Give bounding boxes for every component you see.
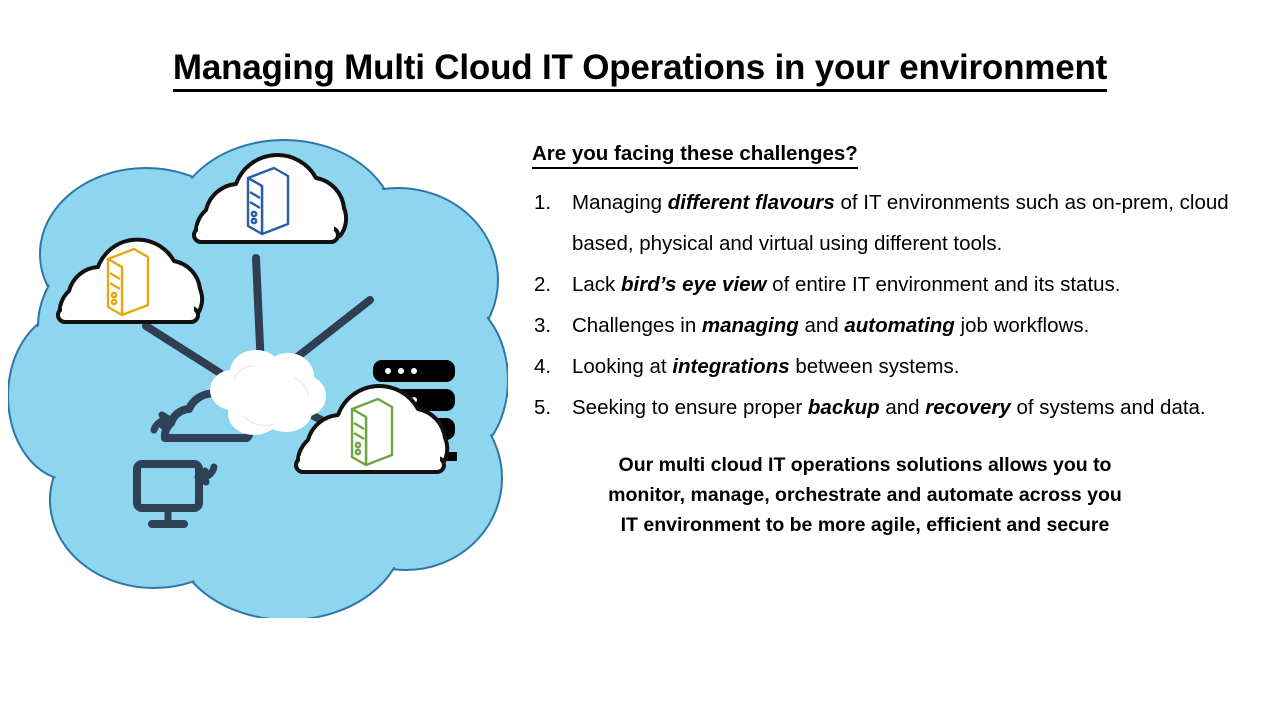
list-item-number: 3. bbox=[534, 305, 560, 346]
list-item: 4. Looking at integrations between syste… bbox=[532, 346, 1232, 387]
list-item-text: Looking at integrations between systems. bbox=[572, 355, 959, 378]
plain-text: Lack bbox=[572, 273, 621, 296]
plain-text: and bbox=[880, 396, 926, 419]
plain-text: Managing bbox=[572, 191, 668, 214]
plain-text: Seeking to ensure proper bbox=[572, 396, 808, 419]
list-item: 5. Seeking to ensure proper backup and r… bbox=[532, 387, 1232, 428]
page-title: Managing Multi Cloud IT Operations in yo… bbox=[0, 48, 1280, 88]
page-title-text: Managing Multi Cloud IT Operations in yo… bbox=[173, 48, 1107, 92]
slide-canvas: Managing Multi Cloud IT Operations in yo… bbox=[0, 0, 1280, 720]
solution-line: IT environment to be more agile, efficie… bbox=[532, 510, 1198, 540]
plain-text: Challenges in bbox=[572, 314, 702, 337]
emphasis-text: managing bbox=[702, 314, 799, 337]
list-item: 1. Managing different flavours of IT env… bbox=[532, 182, 1232, 264]
challenges-heading: Are you facing these challenges? bbox=[532, 142, 858, 169]
server-tower-icon bbox=[108, 249, 148, 315]
plain-text: between systems. bbox=[790, 355, 960, 378]
list-item: 2. Lack bird’s eye view of entire IT env… bbox=[532, 264, 1232, 305]
list-item-number: 5. bbox=[534, 387, 560, 428]
solution-line: Our multi cloud IT operations solutions … bbox=[532, 450, 1198, 480]
list-item: 3. Challenges in managing and automating… bbox=[532, 305, 1232, 346]
challenges-panel: Are you facing these challenges? 1. Mana… bbox=[532, 142, 1232, 540]
plain-text: job workflows. bbox=[955, 314, 1089, 337]
emphasis-text: integrations bbox=[672, 355, 789, 378]
plain-text: and bbox=[799, 314, 845, 337]
plain-text: of systems and data. bbox=[1011, 396, 1206, 419]
list-item-number: 4. bbox=[534, 346, 560, 387]
emphasis-text: recovery bbox=[925, 396, 1010, 419]
challenge-list: 1. Managing different flavours of IT env… bbox=[532, 182, 1232, 428]
plain-text: of entire IT environment and its status. bbox=[766, 273, 1120, 296]
solution-statement: Our multi cloud IT operations solutions … bbox=[532, 450, 1232, 540]
emphasis-text: backup bbox=[808, 396, 880, 419]
emphasis-text: bird’s eye view bbox=[621, 273, 766, 296]
emphasis-text: automating bbox=[844, 314, 954, 337]
server-tower-icon bbox=[352, 399, 392, 465]
server-tower-icon bbox=[248, 168, 288, 234]
list-item-number: 2. bbox=[534, 264, 560, 305]
list-item-text: Seeking to ensure proper backup and reco… bbox=[572, 396, 1206, 419]
multi-cloud-network-diagram bbox=[8, 128, 508, 618]
list-item-text: Managing different flavours of IT enviro… bbox=[572, 191, 1229, 255]
list-item-number: 1. bbox=[534, 182, 560, 223]
list-item-text: Lack bird’s eye view of entire IT enviro… bbox=[572, 273, 1120, 296]
plain-text: Looking at bbox=[572, 355, 672, 378]
emphasis-text: different flavours bbox=[668, 191, 835, 214]
solution-line: monitor, manage, orchestrate and automat… bbox=[532, 480, 1198, 510]
list-item-text: Challenges in managing and automating jo… bbox=[572, 314, 1089, 337]
